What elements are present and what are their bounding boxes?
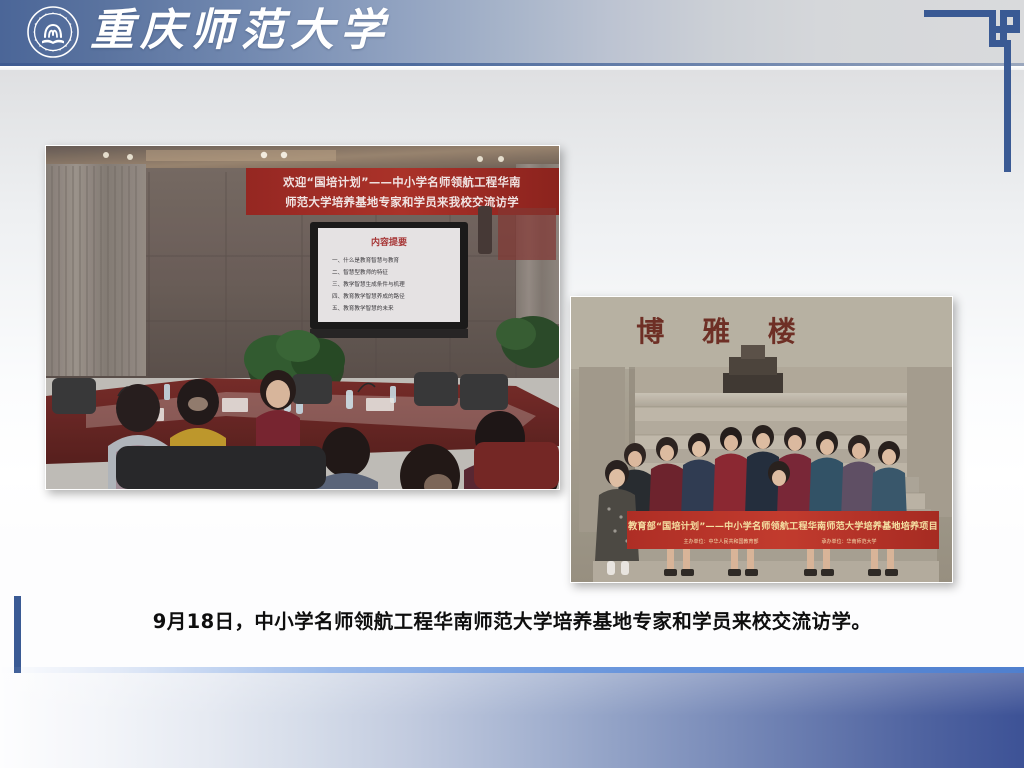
presentation-slide: 重庆师范大学 [0,0,1024,768]
photo-group-at-boya-building[interactable]: 博 雅 楼 [570,296,953,583]
corner-motif-top-right-icon [900,0,1024,176]
photo-meeting-room[interactable]: 欢迎“国培计划”——中小学名师领航工程华南 师范大学培养基地专家和学员来我校交流… [45,145,560,490]
university-name-title: 重庆师范大学 [90,2,390,60]
chongqing-normal-university-emblem-icon [27,6,79,58]
slide-caption: 9月18日，中小学名师领航工程华南师范大学培养基地专家和学员来校交流访学。 [0,605,1024,634]
footer-gradient-band [0,673,1024,768]
header-underline-highlight [0,66,1024,70]
